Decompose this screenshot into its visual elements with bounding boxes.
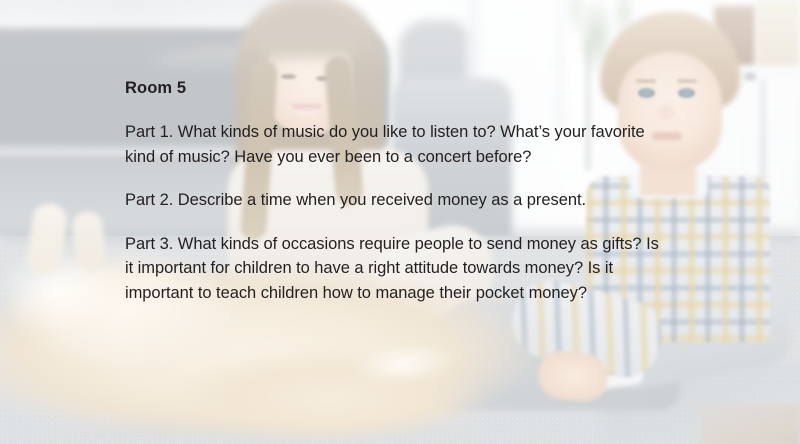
- slide-text-block: Room 5 Part 1. What kinds of music do yo…: [125, 78, 670, 305]
- desk-knob: [744, 72, 756, 81]
- part-1-paragraph: Part 1. What kinds of music do you like …: [125, 120, 670, 169]
- boy-eye-right: [678, 88, 695, 98]
- storage-box-light: [756, 0, 800, 70]
- part-3-paragraph: Part 3. What kinds of occasions require …: [125, 232, 670, 306]
- slide-canvas: Room 5 Part 1. What kinds of music do yo…: [0, 0, 800, 444]
- boy-eyebrow-right: [677, 79, 697, 83]
- page-title: Room 5: [125, 78, 670, 98]
- part-2-paragraph: Part 2. Describe a time when you receive…: [125, 188, 670, 213]
- desk-leg: [760, 80, 766, 190]
